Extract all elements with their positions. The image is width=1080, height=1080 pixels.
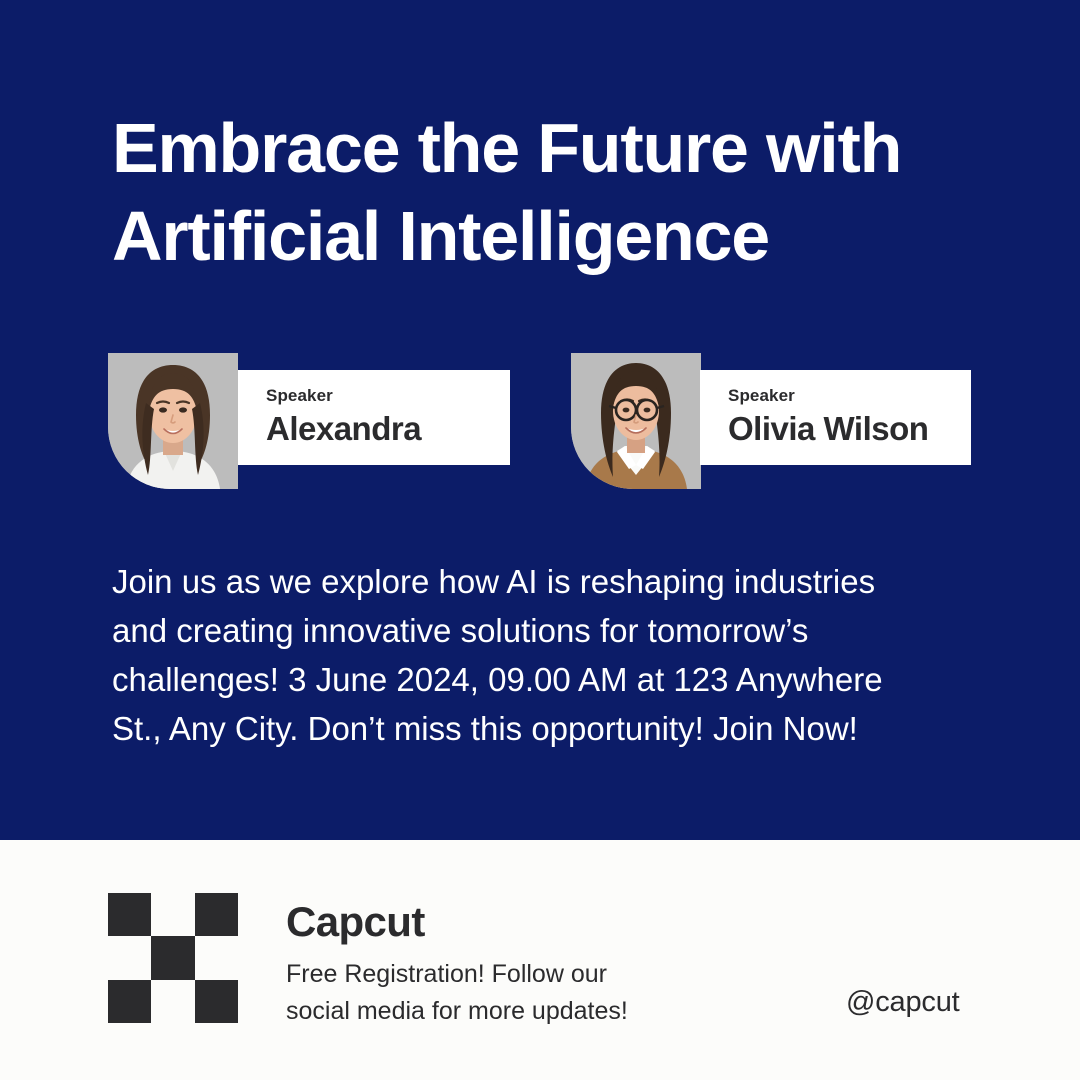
brand-tagline: Free Registration! Follow our social med…	[286, 956, 766, 1030]
description-line-1: Join us as we explore how AI is reshapin…	[112, 557, 992, 606]
social-handle[interactable]: @capcut	[846, 985, 959, 1019]
logo-cell-bottom-right	[195, 980, 238, 1023]
description-line-4: St., Any City. Don’t miss this opportuni…	[112, 704, 992, 753]
checkerboard-logo-icon	[108, 893, 238, 1023]
speaker-info-panel: Speaker Alexandra	[238, 370, 510, 465]
speaker-role-label: Speaker	[728, 386, 971, 406]
avatar	[571, 353, 701, 489]
logo-cell-bottom-left	[108, 980, 151, 1023]
tagline-line-1: Free Registration! Follow our	[286, 956, 766, 993]
page-title: Embrace the Future with Artificial Intel…	[112, 104, 1012, 280]
headline-line-1: Embrace the Future with	[112, 104, 1012, 192]
brand-name: Capcut	[286, 896, 766, 948]
description-line-3: challenges! 3 June 2024, 09.00 AM at 123…	[112, 655, 992, 704]
logo-cell-top-right	[195, 893, 238, 936]
description-line-2: and creating innovative solutions for to…	[112, 606, 992, 655]
event-description: Join us as we explore how AI is reshapin…	[112, 557, 992, 753]
tagline-line-2: social media for more updates!	[286, 993, 766, 1030]
speaker-info-panel: Speaker Olivia Wilson	[700, 370, 971, 465]
speaker-list: Speaker Alexandra	[0, 353, 1080, 493]
speaker-role-label: Speaker	[266, 386, 510, 406]
avatar	[108, 353, 238, 489]
footer-section: Capcut Free Registration! Follow our soc…	[0, 840, 1080, 1080]
logo-cell-top-left	[108, 893, 151, 936]
event-poster: Embrace the Future with Artificial Intel…	[0, 0, 1080, 1080]
logo-cell-center	[151, 936, 194, 979]
speaker-name: Olivia Wilson	[728, 408, 971, 450]
headline-line-2: Artificial Intelligence	[112, 192, 1012, 280]
brand-block: Capcut Free Registration! Follow our soc…	[286, 896, 766, 1030]
hero-section: Embrace the Future with Artificial Intel…	[0, 0, 1080, 840]
speaker-name: Alexandra	[266, 408, 510, 450]
